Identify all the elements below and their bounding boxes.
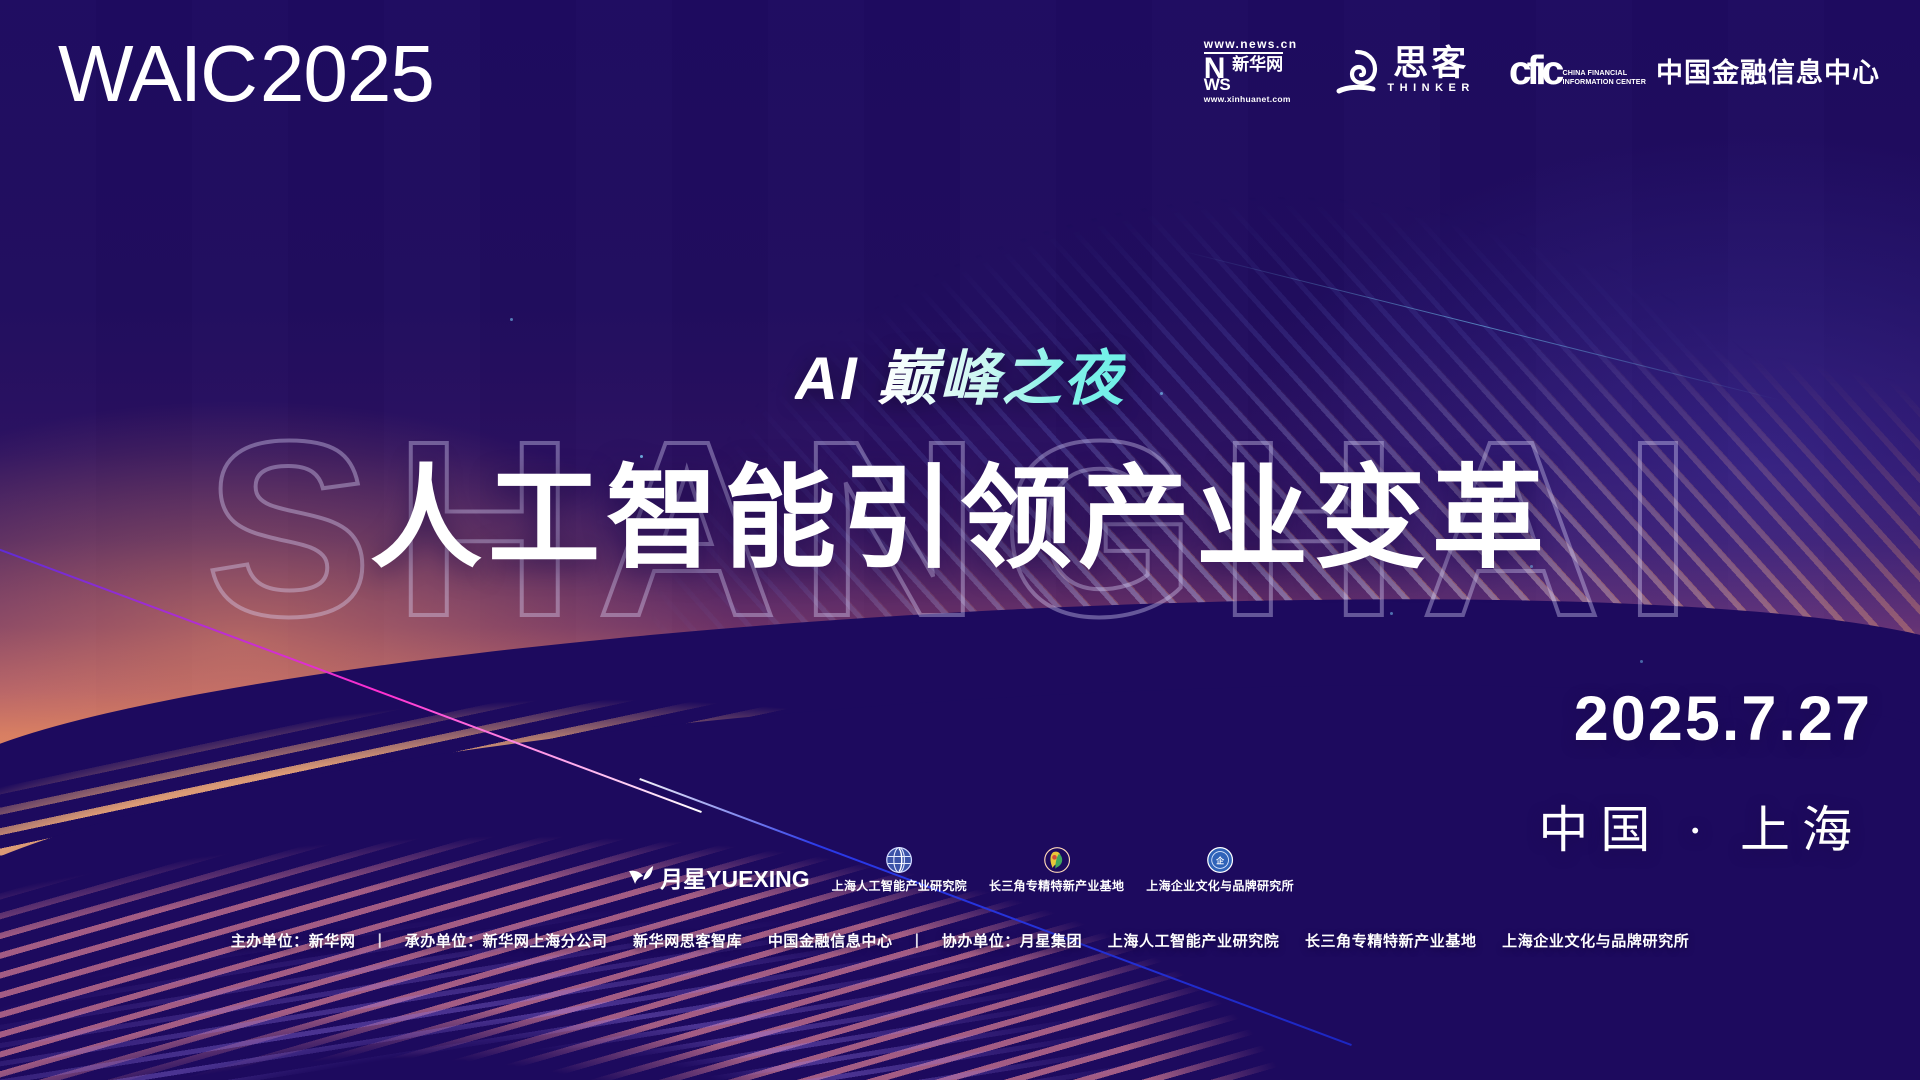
event-headline: 人工智能引领产业变革 [370, 428, 1550, 590]
svg-text:企: 企 [1215, 856, 1225, 866]
sponsor-name-yangtze-delta-base: 长三角专精特新产业基地 [989, 877, 1124, 894]
credit-organizer: 承办单位：新华网上海分公司 [405, 933, 608, 950]
yuexing-star-icon [626, 862, 656, 892]
thinker-chinese: 思客 [1393, 48, 1469, 81]
waic-logo-primary: WAIC [58, 34, 256, 114]
sponsor-logo-yangtze-delta-base: 长三角专精特新产业基地 [989, 845, 1124, 894]
credit-co-organizer-3: 长三角专精特新产业基地 [1305, 933, 1477, 950]
yuexing-english: YUEXING [706, 866, 810, 892]
waic-logo: WAIC 2025 [58, 34, 434, 114]
sponsor-name-corporate-culture-institute: 上海企业文化与品牌研究所 [1146, 877, 1294, 894]
credit-organizer-3: 中国金融信息中心 [768, 933, 893, 950]
xinhuanet-url-bottom: www.xinhuanet.com [1204, 95, 1291, 104]
credits-line: 主办单位：新华网 丨 承办单位：新华网上海分公司 新华网思客智库 中国金融信息中… [0, 930, 1920, 951]
credit-co-organizer: 协办单位：月星集团 [942, 933, 1082, 950]
thinker-english: THINKER [1387, 82, 1474, 94]
cfic-logo: cfic CHINA FINANCIAL INFORMATION CENTER … [1509, 50, 1880, 91]
credit-divider-2: 丨 [909, 933, 925, 950]
globe-emblem-icon [884, 845, 914, 875]
partner-logo-strip: www.news.cn N WS 新华网 www.xinhuanet.com [1204, 38, 1880, 104]
seal-emblem-icon: 企 [1205, 845, 1235, 875]
event-date: 2025.7.27 [1574, 688, 1872, 751]
poster-header: WAIC 2025 www.news.cn N WS 新华网 www.xinhu… [0, 0, 1920, 150]
xinhuanet-url-top: www.news.cn [1204, 38, 1298, 50]
event-poster: SHANGHAI WAIC 2025 www.news.cn N WS 新华网 … [0, 0, 1920, 1080]
credit-co-organizer-4: 上海企业文化与品牌研究所 [1502, 933, 1689, 950]
event-location: 中国 · 上海 [1538, 790, 1864, 862]
cfic-chinese: 中国金融信息中心 [1656, 51, 1880, 90]
thinker-logo: 思客 THINKER [1331, 45, 1474, 97]
event-subtitle: AI 巅峰之夜 [795, 330, 1126, 417]
credit-co-organizer-2: 上海人工智能产业研究院 [1108, 933, 1280, 950]
sponsor-logo-row: 月星YUEXING 上海人工智能产业研究院 [626, 845, 1294, 894]
credit-organizer-2: 新华网思客智库 [633, 933, 742, 950]
thinker-swirl-icon [1331, 45, 1383, 97]
sponsor-name-shanghai-ai-institute: 上海人工智能产业研究院 [832, 877, 967, 894]
cfic-mark: cfic [1509, 50, 1560, 91]
sponsor-logo-yuexing: 月星YUEXING [626, 860, 810, 894]
sponsor-logo-corporate-culture-institute: 企 上海企业文化与品牌研究所 [1146, 845, 1294, 894]
credit-host: 主办单位：新华网 [231, 933, 356, 950]
xinhuanet-logo: www.news.cn N WS 新华网 www.xinhuanet.com [1204, 38, 1298, 104]
yuexing-chinese: 月星 [660, 866, 706, 892]
waic-logo-year: 2025 [260, 34, 434, 114]
xinhuanet-chinese: 新华网 [1232, 56, 1283, 74]
credit-divider-1: 丨 [372, 933, 388, 950]
cfic-english-line2: INFORMATION CENTER [1562, 78, 1646, 86]
sponsor-logo-shanghai-ai-institute: 上海人工智能产业研究院 [832, 845, 967, 894]
colorful-emblem-icon [1042, 845, 1072, 875]
xinhuanet-news: WS [1204, 76, 1230, 93]
